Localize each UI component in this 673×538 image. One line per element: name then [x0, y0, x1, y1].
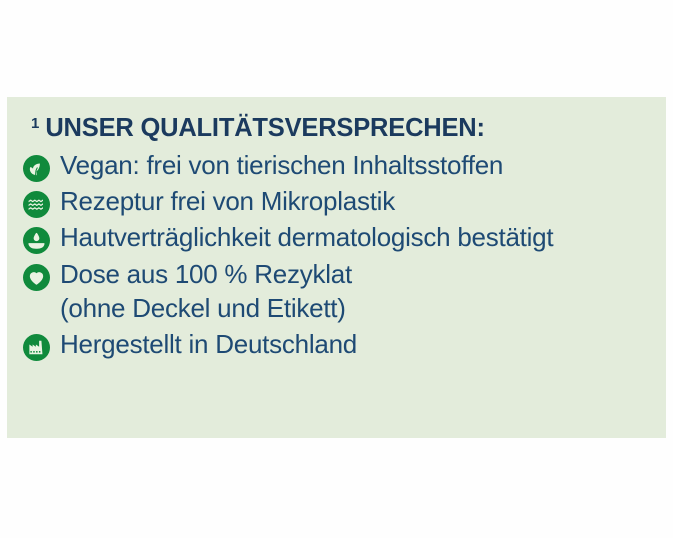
- hand-droplet-icon: [23, 227, 50, 254]
- product-claims-panel-stage: 1 UNSER QUALITÄTSVERSPRECHEN: Vegan: fre…: [0, 0, 673, 538]
- list-item-label-line2: (ohne Deckel und Etikett): [60, 291, 352, 325]
- list-item-label: Hergestellt in Deutschland: [60, 327, 357, 361]
- footnote-marker: 1: [31, 116, 39, 131]
- recycle-heart-icon: [23, 264, 50, 291]
- list-item-label: Hautverträglichkeit dermatologisch bestä…: [60, 220, 553, 254]
- list-item-label-line1: Dose aus 100 % Rezyklat: [60, 259, 352, 289]
- list-item-label: Dose aus 100 % Rezyklat (ohne Deckel und…: [60, 257, 352, 326]
- panel-heading: 1 UNSER QUALITÄTSVERSPRECHEN:: [31, 115, 650, 142]
- promise-list: Vegan: frei von tierischen Inhaltsstoffe…: [23, 148, 650, 362]
- waves-icon: [23, 191, 50, 218]
- list-item: Dose aus 100 % Rezyklat (ohne Deckel und…: [23, 257, 650, 326]
- list-item: Hergestellt in Deutschland: [23, 327, 650, 361]
- list-item: Rezeptur frei von Mikroplastik: [23, 184, 650, 218]
- list-item: Hautverträglichkeit dermatologisch bestä…: [23, 220, 650, 254]
- list-item: Vegan: frei von tierischen Inhaltsstoffe…: [23, 148, 650, 182]
- list-item-label: Rezeptur frei von Mikroplastik: [60, 184, 395, 218]
- quality-promise-panel: 1 UNSER QUALITÄTSVERSPRECHEN: Vegan: fre…: [7, 97, 666, 438]
- list-item-label: Vegan: frei von tierischen Inhaltsstoffe…: [60, 148, 503, 182]
- leaf-icon: [23, 155, 50, 182]
- page-title: UNSER QUALITÄTSVERSPRECHEN:: [45, 115, 484, 142]
- factory-icon: [23, 334, 50, 361]
